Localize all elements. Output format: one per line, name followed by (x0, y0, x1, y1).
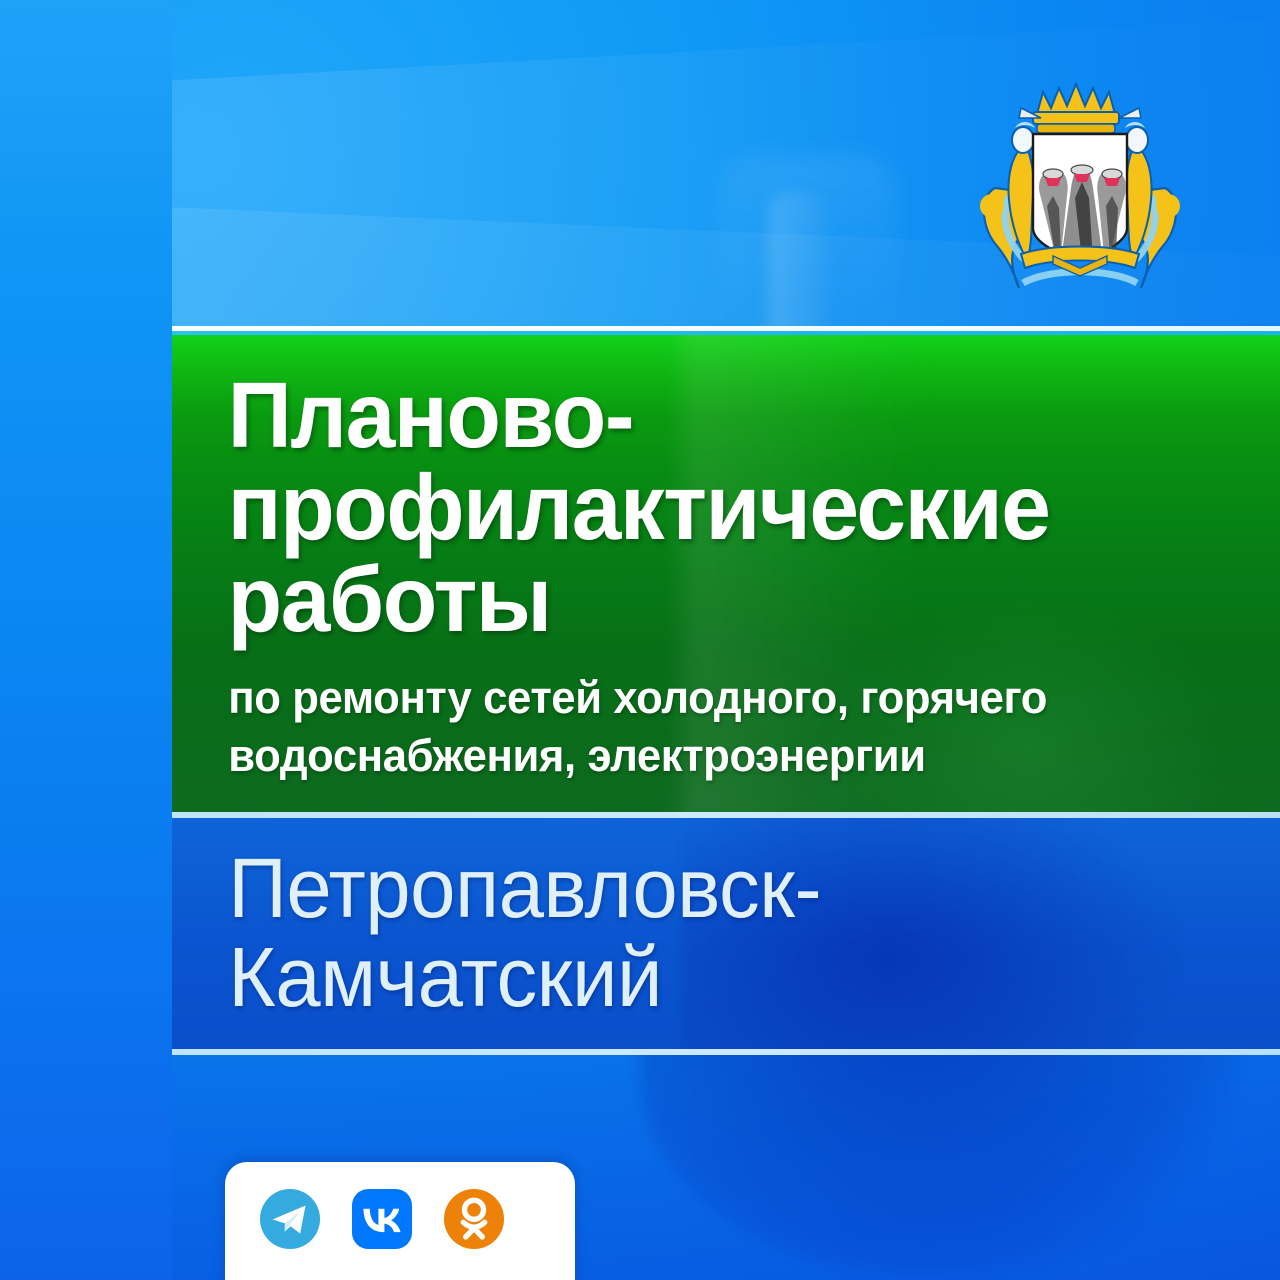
poster-root: Планово-профилактические работы по ремон… (0, 0, 1280, 1280)
page-subtitle: по ремонту сетей холодного, горячего вод… (172, 655, 1247, 812)
content-panels: Планово-профилактические работы по ремон… (172, 326, 1280, 1055)
telegram-icon[interactable] (259, 1188, 321, 1250)
divider-bottom (172, 1049, 1280, 1055)
blue-panel: Петропавловск-Камчатский (172, 818, 1280, 1048)
ok-icon[interactable] (443, 1188, 505, 1250)
coat-of-arms-icon (975, 78, 1185, 293)
vk-icon[interactable] (351, 1188, 413, 1250)
page-title: Планово-профилактические работы (172, 335, 1236, 655)
city-name: Петропавловск-Камчатский (172, 818, 1247, 1048)
background-left-strip (0, 0, 172, 1280)
green-panel: Планово-профилактические работы по ремон… (172, 335, 1280, 812)
social-links-card (225, 1162, 575, 1280)
